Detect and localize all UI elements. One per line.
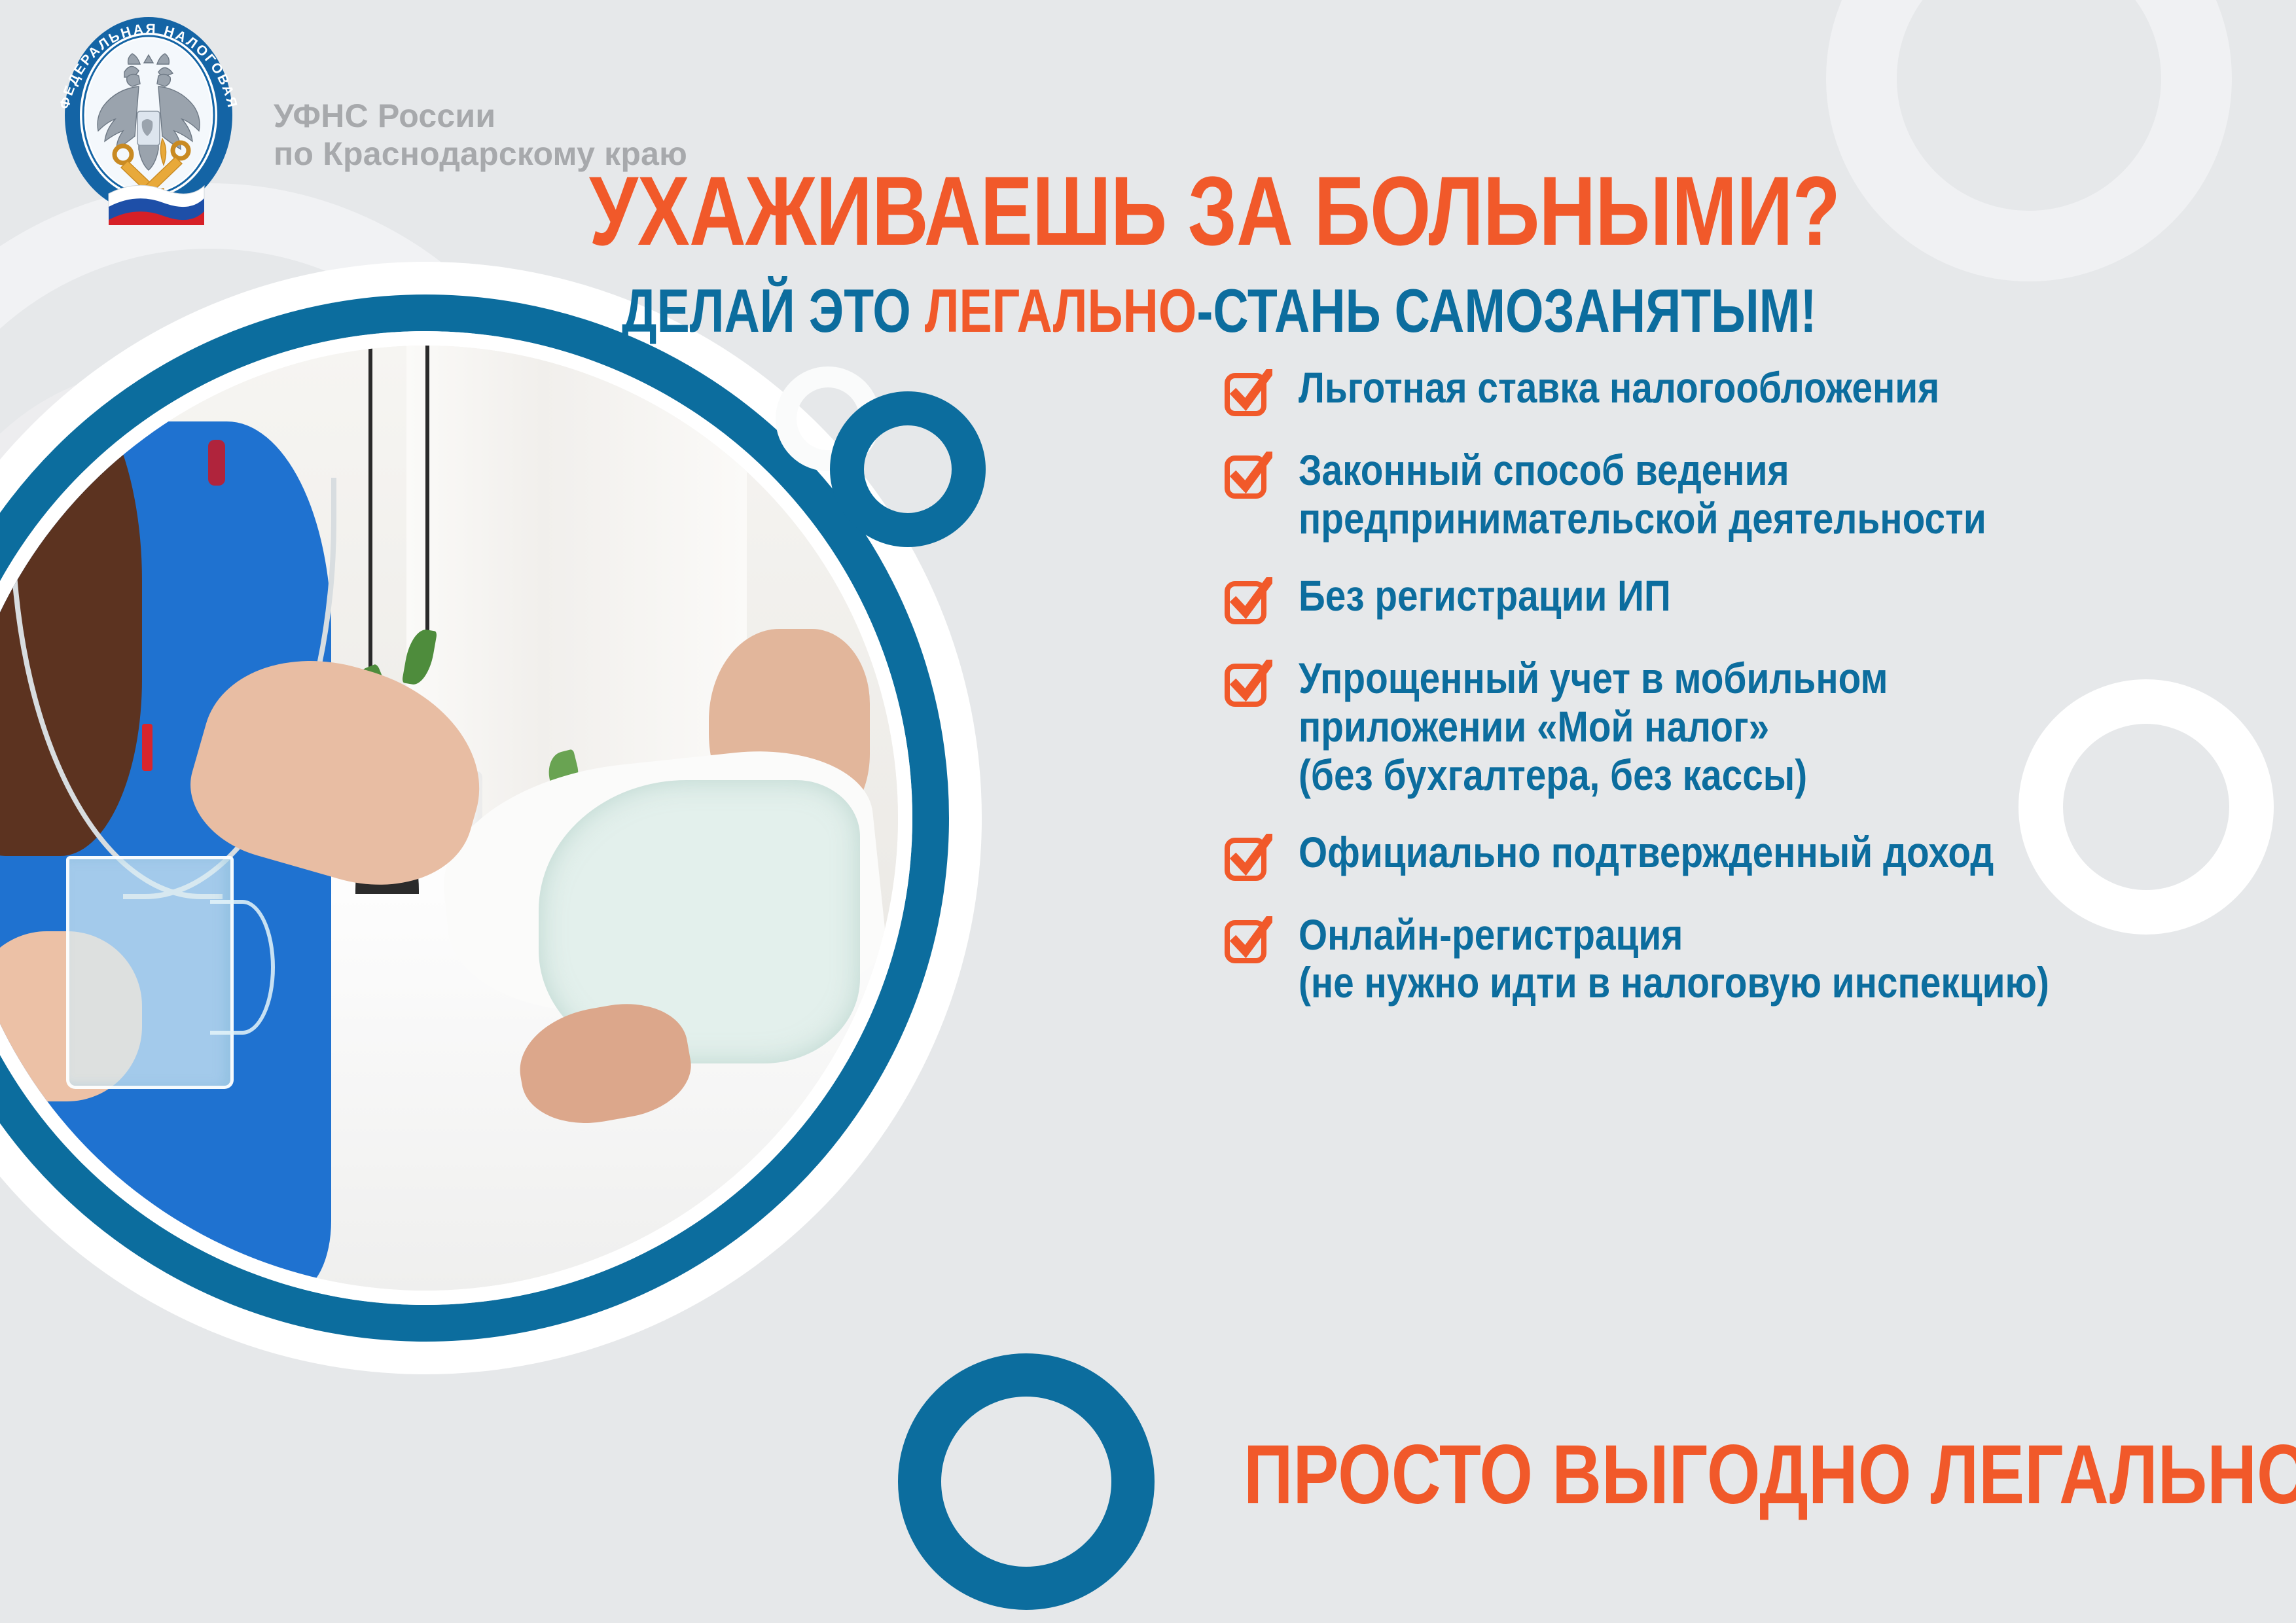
checkbox-checked-icon	[1224, 660, 1272, 708]
scene-stethoscope-earpiece	[208, 440, 225, 486]
photo-scene	[0, 346, 898, 1291]
decor-ring-small-blue	[830, 391, 986, 547]
list-item-label: Без регистрации ИП	[1299, 572, 1671, 620]
list-item-label: Официально подтвержденный доход	[1299, 829, 1994, 877]
subtitle-part-2: -СТАНЬ САМОЗАНЯТЫМ!	[1196, 276, 1816, 345]
scene-cord	[368, 346, 372, 667]
page-subtitle: ДЕЛАЙ ЭТО ЛЕГАЛЬНО-СТАНЬ САМОЗАНЯТЫМ!	[622, 280, 1816, 342]
page-title: УХАЖИВАЕШЬ ЗА БОЛЬНЫМИ?	[589, 164, 1479, 258]
list-item: Законный способ ведения предпринимательс…	[1224, 446, 2278, 543]
subtitle-highlight: ЛЕГАЛЬНО	[925, 276, 1197, 345]
poster-canvas: ФЕДЕРАЛЬНАЯ НАЛОГОВАЯ СЛУЖБА	[0, 0, 2296, 1623]
list-item: Без регистрации ИП	[1224, 572, 2278, 626]
subtitle-part-1: ДЕЛАЙ ЭТО	[622, 276, 925, 345]
benefits-list: Льготная ставка налогообложения Законный…	[1224, 364, 2278, 1036]
photo-nurse-and-patient	[0, 346, 898, 1291]
list-item-label: Льготная ставка налогообложения	[1299, 364, 1939, 412]
list-item-label: Онлайн-регистрация (не нужно идти в нало…	[1299, 911, 2049, 1008]
checkbox-checked-icon	[1224, 369, 1272, 418]
checkbox-checked-icon	[1224, 577, 1272, 626]
decor-ring-bottom-blue	[898, 1353, 1155, 1610]
scene-water-glass	[66, 856, 233, 1090]
list-item-label: Упрощенный учет в мобильном приложении «…	[1299, 654, 1888, 800]
list-item: Онлайн-регистрация (не нужно идти в нало…	[1224, 911, 2278, 1008]
checkbox-checked-icon	[1224, 834, 1272, 882]
checkbox-checked-icon	[1224, 452, 1272, 500]
scene-stethoscope-earpiece	[10, 440, 27, 486]
fns-emblem: ФЕДЕРАЛЬНАЯ НАЛОГОВАЯ СЛУЖБА	[41, 16, 257, 228]
list-item: Льготная ставка налогообложения	[1224, 364, 2278, 418]
list-item: Упрощенный учет в мобильном приложении «…	[1224, 654, 2278, 800]
scene-pen	[142, 724, 152, 771]
scene-cord	[425, 346, 429, 648]
checkbox-checked-icon	[1224, 916, 1272, 965]
decor-ring-top-right	[1826, 0, 2232, 281]
list-item-label: Законный способ ведения предпринимательс…	[1299, 446, 1986, 543]
list-item: Официально подтвержденный доход	[1224, 829, 2278, 882]
footer-slogan: ПРОСТО ВЫГОДНО ЛЕГАЛЬНО	[1244, 1433, 2296, 1517]
